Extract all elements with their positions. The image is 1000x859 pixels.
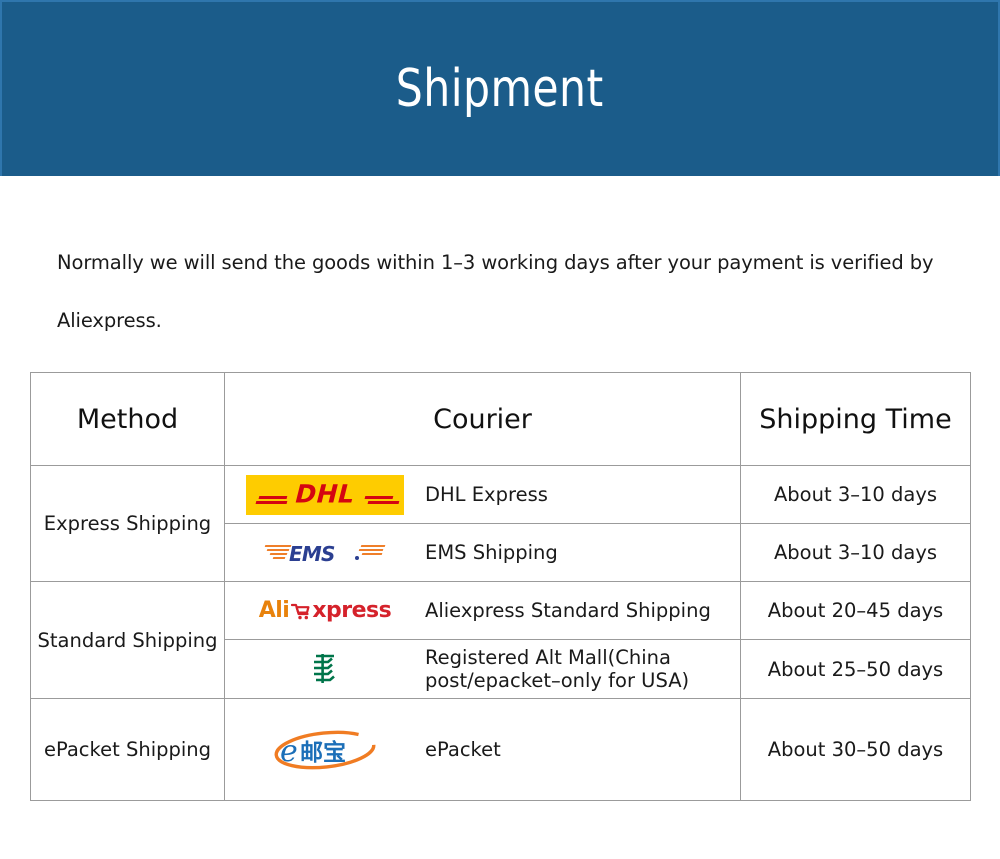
aliexpress-logo-text-xpress: xpress — [312, 598, 391, 623]
logo-container-epacket: e 邮宝 — [225, 727, 425, 773]
ems-chevron-icon — [359, 549, 384, 551]
ems-logo-text: EMS — [289, 542, 335, 566]
dhl-logo-icon: DHL — [246, 475, 404, 515]
courier-name-china-post: Registered Alt Mall(China post/epacket–o… — [425, 646, 689, 692]
china-post-logo-icon — [304, 649, 346, 689]
courier-name-ems: EMS Shipping — [425, 541, 558, 564]
dhl-stripe-icon — [259, 496, 288, 499]
table-row: Express Shipping DHL DHL Express — [31, 466, 971, 524]
table-row: Standard Shipping Ali — [31, 582, 971, 640]
courier-name-aliexpress: Aliexpress Standard Shipping — [425, 599, 711, 622]
column-header-method: Method — [31, 373, 225, 466]
ems-chevron-icon — [273, 557, 286, 559]
aliexpress-logo-text-ali: Ali — [259, 598, 290, 623]
ems-chevron-icon — [362, 553, 383, 555]
page-bottom-spacer — [0, 801, 1000, 840]
method-cell-epacket-shipping: ePacket Shipping — [31, 699, 225, 801]
column-header-shipping-time: Shipping Time — [741, 373, 971, 466]
page-banner: Shipment — [0, 0, 1000, 176]
logo-container-ems: EMS — [225, 538, 425, 568]
table-header-row: Method Courier Shipping Time — [31, 373, 971, 466]
intro-line-2: Aliexpress. — [57, 309, 162, 332]
svg-text:e: e — [280, 734, 298, 769]
ems-logo-icon: EMS — [263, 538, 387, 568]
shipping-time-dhl: About 3–10 days — [741, 466, 971, 524]
svg-text:邮宝: 邮宝 — [300, 739, 346, 766]
logo-container-dhl: DHL — [225, 475, 425, 515]
shipping-time-ems: About 3–10 days — [741, 524, 971, 582]
courier-cell-china-post: Registered Alt Mall(China post/epacket–o… — [225, 640, 741, 699]
courier-cell-epacket: e 邮宝 ePacket — [225, 699, 741, 801]
ems-chevron-icon — [267, 549, 290, 551]
table-row: ePacket Shipping e 邮宝 ePacket — [31, 699, 971, 801]
shipping-time-aliexpress: About 20–45 days — [741, 582, 971, 640]
ems-chevron-icon — [361, 545, 386, 547]
dhl-stripe-icon — [256, 501, 288, 504]
courier-name-china-post-line1: Registered Alt Mall(China — [425, 646, 671, 669]
shopping-cart-icon — [291, 601, 311, 621]
aliexpress-logo-icon: Ali xpress — [259, 598, 392, 623]
dhl-logo-text: DHL — [292, 479, 358, 508]
page-title: Shipment — [396, 59, 604, 119]
intro-line-1: Normally we will send the goods within 1… — [57, 251, 933, 274]
shipping-methods-table: Method Courier Shipping Time Express Shi… — [30, 372, 971, 801]
courier-cell-ems: EMS EMS Shipping — [225, 524, 741, 582]
method-cell-express-shipping: Express Shipping — [31, 466, 225, 582]
column-header-courier: Courier — [225, 373, 741, 466]
dhl-stripe-icon — [368, 501, 400, 504]
courier-cell-dhl: DHL DHL Express — [225, 466, 741, 524]
courier-name-epacket: ePacket — [425, 738, 501, 761]
method-cell-standard-shipping: Standard Shipping — [31, 582, 225, 699]
ems-chevron-icon — [265, 545, 292, 547]
courier-name-china-post-line2: post/epacket–only for USA) — [425, 669, 689, 692]
logo-container-china-post — [225, 649, 425, 689]
courier-name-dhl: DHL Express — [425, 483, 548, 506]
shipping-time-epacket: About 30–50 days — [741, 699, 971, 801]
logo-container-aliexpress: Ali xpress — [225, 598, 425, 623]
shipping-table-container: Method Courier Shipping Time Express Shi… — [0, 372, 1000, 801]
courier-cell-aliexpress: Ali xpress A — [225, 582, 741, 640]
ems-chevron-icon — [270, 553, 288, 555]
shipment-intro-paragraph: Normally we will send the goods within 1… — [0, 176, 1000, 350]
epacket-logo-icon: e 邮宝 — [270, 727, 380, 773]
ems-dot-icon — [355, 556, 359, 560]
dhl-stripe-icon — [365, 496, 394, 499]
shipping-time-china-post: About 25–50 days — [741, 640, 971, 699]
